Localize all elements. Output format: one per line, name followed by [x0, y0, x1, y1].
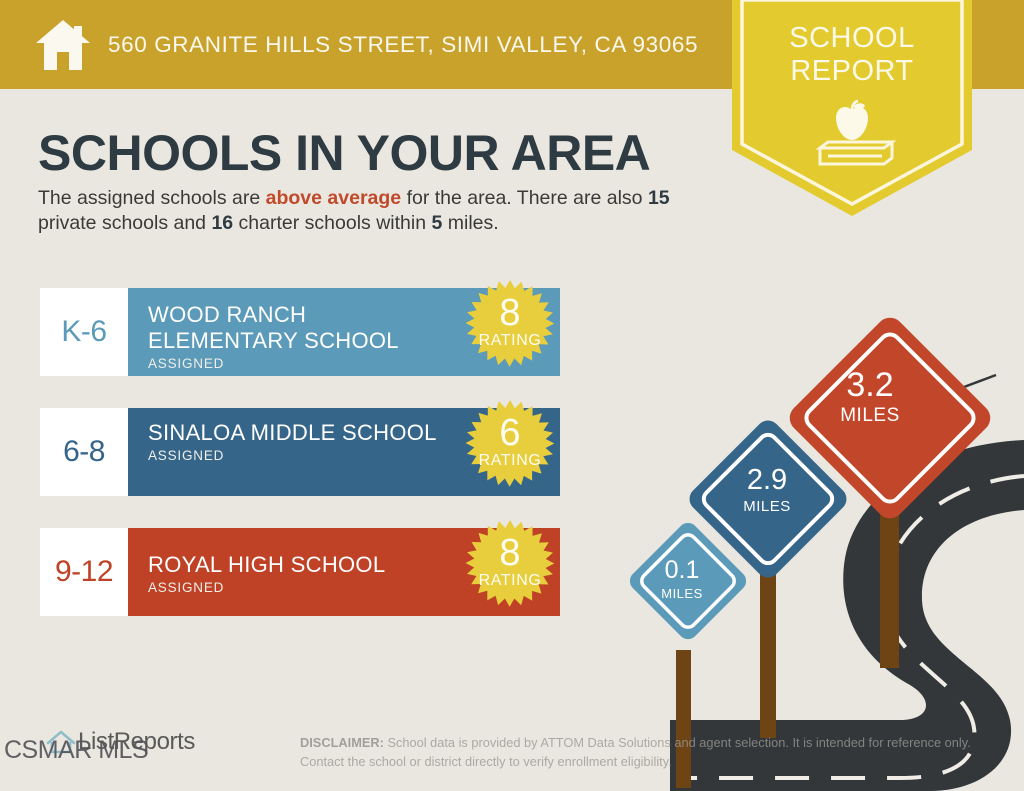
house-icon [34, 18, 92, 72]
school-row[interactable]: K-6 WOOD RANCH ELEMENTARY SCHOOL ASSIGNE… [40, 288, 560, 376]
distance-value: 0.1 [632, 558, 732, 583]
school-row[interactable]: 6-8 SINALOA MIDDLE SCHOOL ASSIGNED 6 RAT… [40, 408, 560, 496]
distance-unit: MILES [712, 499, 822, 514]
disclaimer-text: School data is provided by ATTOM Data So… [300, 735, 971, 769]
page-title: SCHOOLS IN YOUR AREA [38, 124, 650, 182]
rating-badge: 8 RATING [458, 520, 562, 624]
school-name: SINALOA MIDDLE SCHOOL [148, 420, 448, 446]
subtitle-highlight: above average [266, 187, 402, 209]
distance-value: 2.9 [712, 466, 822, 495]
grade-range: 6-8 [40, 408, 128, 496]
rating-value: 8 [458, 294, 562, 332]
distance-sign-1-text: 0.1 MILES [632, 558, 732, 600]
rating-badge: 8 RATING [458, 280, 562, 384]
school-list: K-6 WOOD RANCH ELEMENTARY SCHOOL ASSIGNE… [40, 288, 560, 648]
subtitle: The assigned schools are above average f… [38, 186, 718, 236]
distance-unit: MILES [805, 406, 935, 425]
banner-line-1: SCHOOL [732, 22, 972, 55]
sign-post [760, 570, 776, 738]
grade-range: K-6 [40, 288, 128, 376]
school-name: ROYAL HIGH SCHOOL [148, 552, 448, 578]
disclaimer: DISCLAIMER: School data is provided by A… [300, 733, 980, 771]
road-scene-illustration: 0.1 MILES 2.9 MILES 3.2 MILES [600, 300, 1024, 791]
rating-badge: 6 RATING [458, 400, 562, 504]
subtitle-part-2: for the area. There are also [401, 187, 648, 209]
subtitle-part-5: miles. [442, 212, 498, 234]
school-row[interactable]: 9-12 ROYAL HIGH SCHOOL ASSIGNED 8 RATING [40, 528, 560, 616]
distance-sign-3-text: 3.2 MILES [805, 368, 935, 425]
rating-label: RATING [458, 332, 562, 350]
radius-miles: 5 [431, 212, 442, 234]
distance-sign-2-text: 2.9 MILES [712, 466, 822, 514]
rating-value: 6 [458, 414, 562, 452]
distance-unit: MILES [632, 587, 732, 600]
school-name: WOOD RANCH ELEMENTARY SCHOOL [148, 302, 448, 354]
property-address: 560 GRANITE HILLS STREET, SIMI VALLEY, C… [108, 32, 698, 58]
mls-watermark: CSMAR MLS [4, 736, 148, 765]
subtitle-part-3: private schools and [38, 212, 211, 234]
rating-label: RATING [458, 572, 562, 590]
charter-school-count: 16 [211, 212, 233, 234]
grade-range: 9-12 [40, 528, 128, 616]
subtitle-part-4: charter schools within [233, 212, 431, 234]
disclaimer-label: DISCLAIMER: [300, 735, 384, 750]
banner-title: SCHOOL REPORT [732, 22, 972, 88]
private-school-count: 15 [648, 187, 670, 209]
school-report-banner: SCHOOL REPORT [732, 0, 972, 216]
banner-line-2: REPORT [732, 55, 972, 88]
subtitle-part-1: The assigned schools are [38, 187, 266, 209]
distance-value: 3.2 [805, 368, 935, 402]
rating-value: 8 [458, 534, 562, 572]
rating-label: RATING [458, 452, 562, 470]
